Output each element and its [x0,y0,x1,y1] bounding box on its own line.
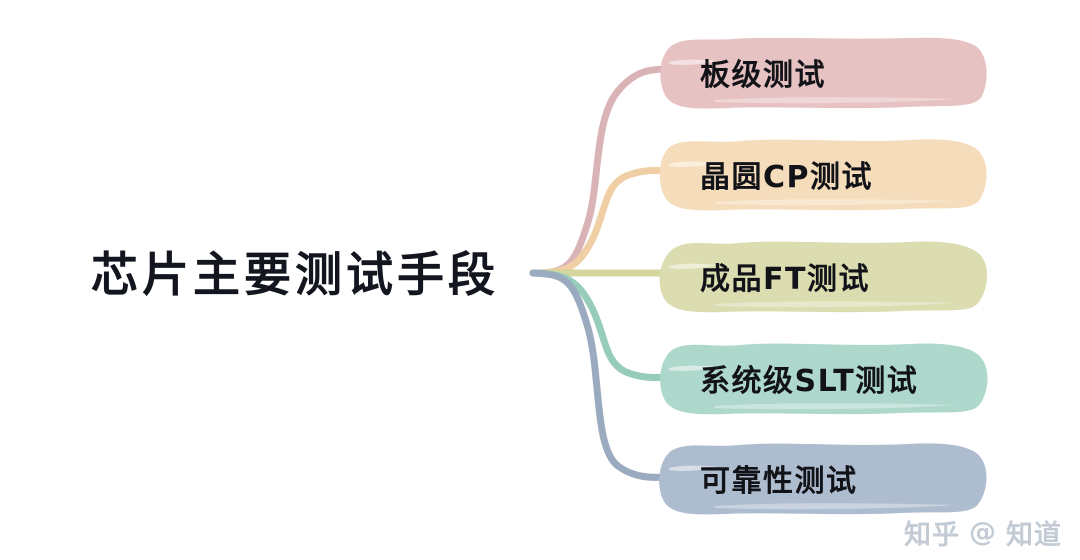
connector-branch-1 [533,171,668,273]
connector-group [533,69,668,477]
branch-node-label: 板级测试 [700,50,826,94]
root-node-title: 芯片主要测试手段 [60,232,530,308]
connector-branch-3 [533,273,668,377]
branch-node-label: 可靠性测试 [700,456,858,500]
branch-node-wafer-cp-test[interactable]: 晶圆CP测试 [655,134,990,214]
branch-node-label: 成品FT测试 [700,254,870,298]
branch-node-system-level-slt-test[interactable]: 系统级SLT测试 [655,338,990,418]
branch-node-label: 晶圆CP测试 [700,152,873,196]
branch-node-board-level-test[interactable]: 板级测试 [655,32,990,112]
branch-node-reliability-test[interactable]: 可靠性测试 [655,438,990,518]
branch-node-label: 系统级SLT测试 [700,356,918,400]
branch-node-final-ft-test[interactable]: 成品FT测试 [655,236,990,316]
